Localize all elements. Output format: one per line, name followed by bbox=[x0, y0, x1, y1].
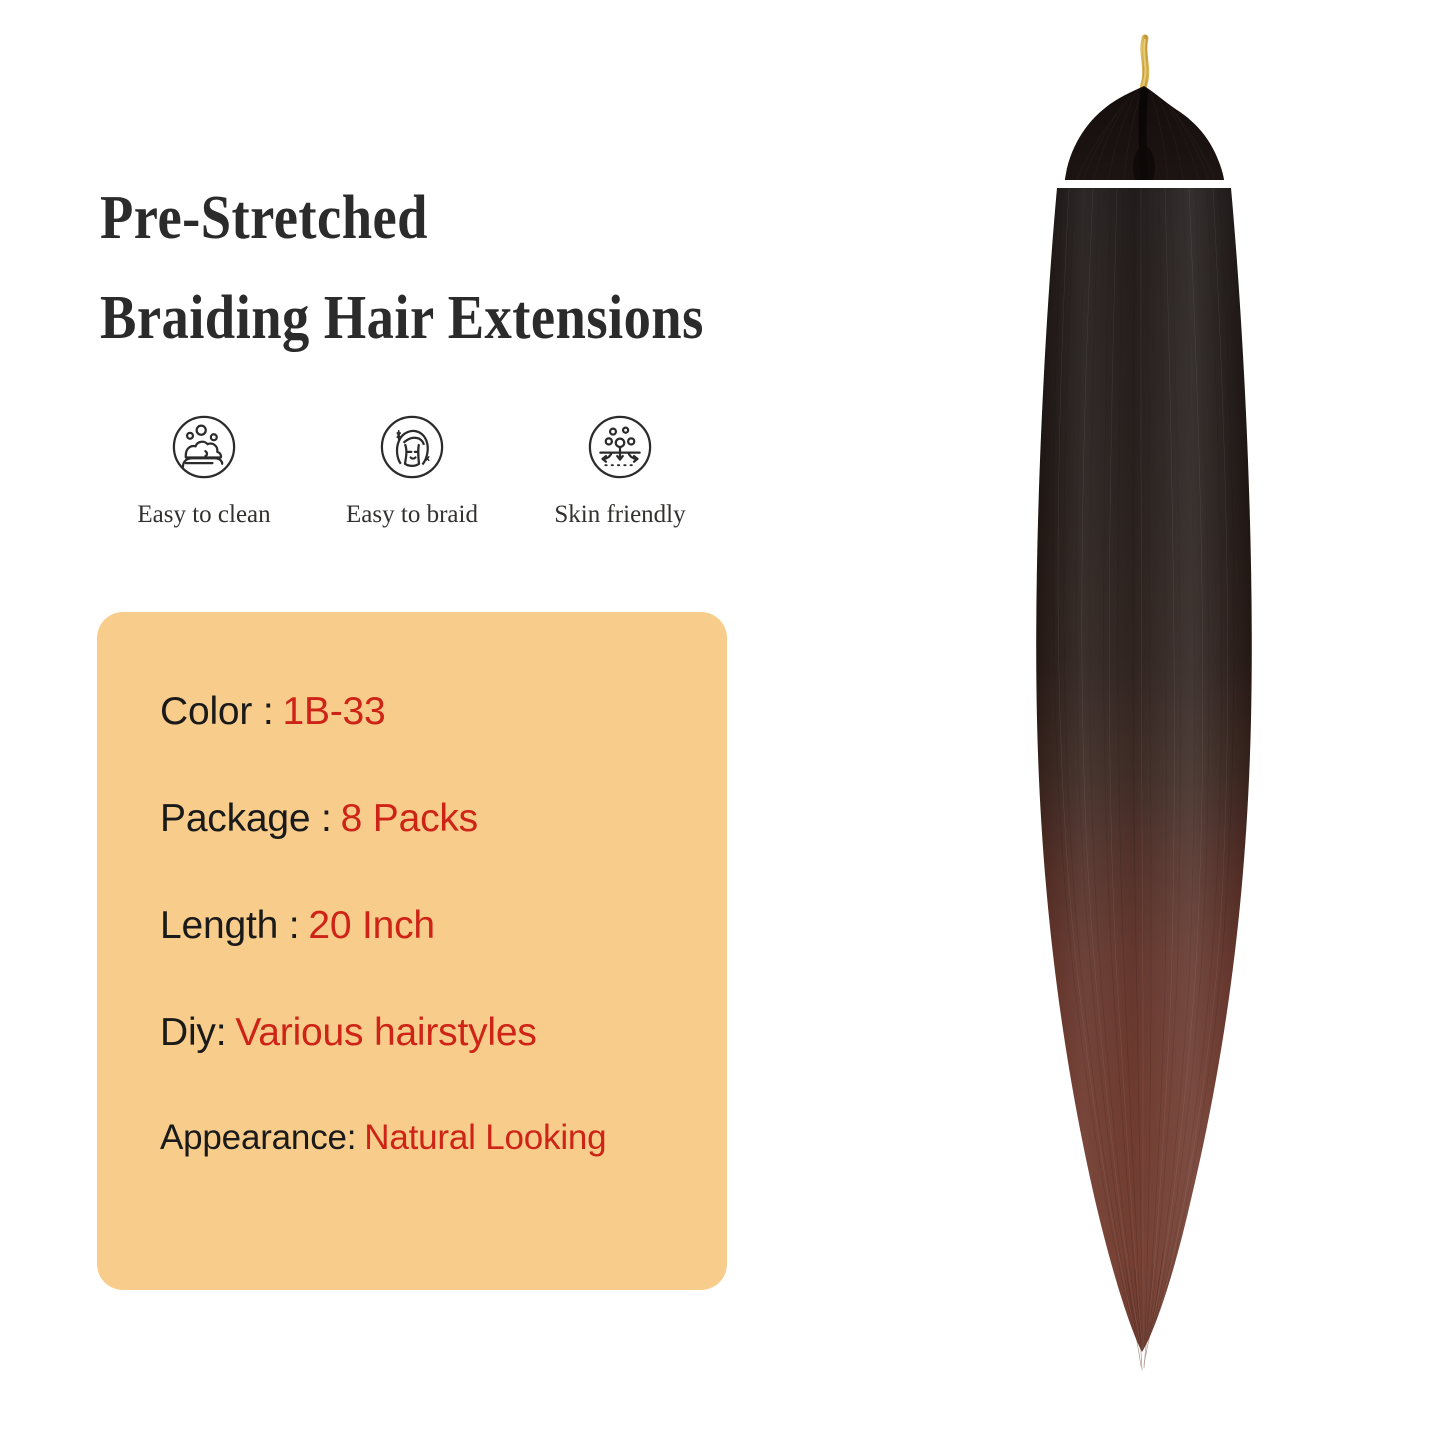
info-row-appearance: Appearance: Natural Looking bbox=[160, 1118, 727, 1225]
info-label: Diy: bbox=[160, 1011, 226, 1055]
page-title: Pre-Stretched Braiding Hair Extensions bbox=[100, 168, 960, 368]
woman-braided-hair-icon bbox=[377, 412, 447, 482]
product-photo: EASY BRAID bbox=[985, 20, 1315, 1380]
info-row-package: Package : 8 Packs bbox=[160, 797, 727, 904]
skin-friendly-barrier-icon bbox=[585, 412, 655, 482]
hair-bundle-body bbox=[1036, 188, 1252, 1370]
info-label: Color : bbox=[160, 690, 273, 734]
info-value: Various hairstyles bbox=[235, 1011, 536, 1055]
feature-item-easy-to-braid: Easy to braid bbox=[308, 412, 516, 529]
feature-item-skin-friendly: Skin friendly bbox=[516, 412, 724, 529]
feature-list: Easy to clean Easy to braid bbox=[100, 412, 725, 529]
product-info-card: Color : 1B-33 Package : 8 Packs Length :… bbox=[97, 612, 727, 1290]
info-row-length: Length : 20 Inch bbox=[160, 904, 727, 1011]
feature-label: Skin friendly bbox=[554, 501, 685, 529]
feature-label: Easy to clean bbox=[137, 501, 270, 529]
info-label: Length : bbox=[160, 904, 299, 948]
feature-label: Easy to braid bbox=[346, 501, 478, 529]
hair-folded-top bbox=[1064, 86, 1225, 190]
info-value: 20 Inch bbox=[308, 904, 435, 948]
hand-washing-soap-icon bbox=[169, 412, 239, 482]
page-title-line-2: Braiding Hair Extensions bbox=[100, 268, 857, 368]
info-label: Appearance: bbox=[160, 1118, 356, 1158]
info-row-diy: Diy: Various hairstyles bbox=[160, 1011, 727, 1118]
info-row-color: Color : 1B-33 bbox=[160, 690, 727, 797]
page-title-line-1: Pre-Stretched bbox=[100, 168, 857, 268]
info-value: Natural Looking bbox=[364, 1118, 606, 1158]
info-value: 1B-33 bbox=[282, 690, 385, 734]
feature-item-easy-to-clean: Easy to clean bbox=[100, 412, 308, 529]
info-label: Package : bbox=[160, 797, 332, 841]
info-value: 8 Packs bbox=[341, 797, 478, 841]
